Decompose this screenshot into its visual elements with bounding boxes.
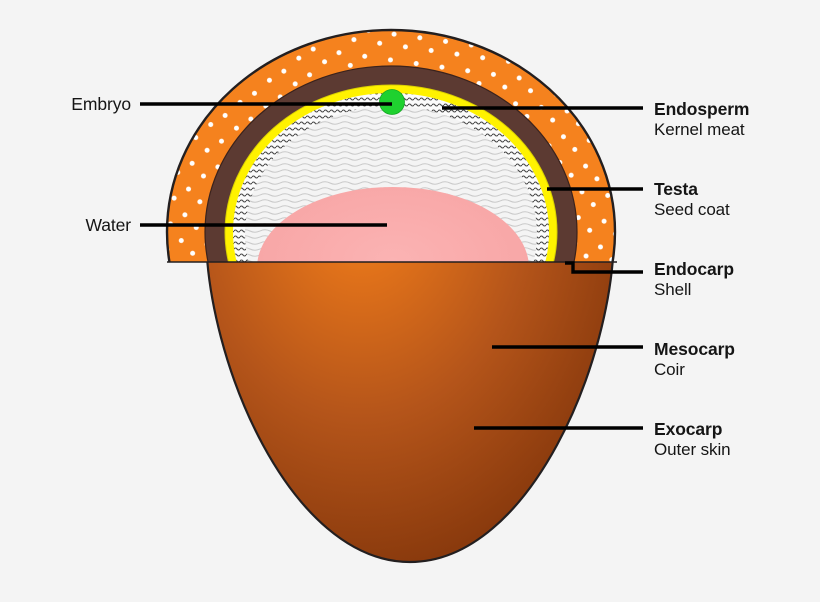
label-testa-subtitle: Seed coat: [654, 199, 730, 220]
label-testa-title: Testa: [654, 180, 730, 199]
embryo-marker: [380, 90, 405, 115]
label-water: Water: [0, 216, 131, 235]
label-endocarp-subtitle: Shell: [654, 279, 734, 300]
label-exocarp-subtitle: Outer skin: [654, 439, 730, 460]
label-testa: Testa Seed coat: [654, 180, 730, 220]
label-embryo: Embryo: [0, 95, 131, 114]
label-mesocarp-title: Mesocarp: [654, 340, 735, 359]
coconut-illustration: [0, 0, 820, 602]
coconut-anatomy-diagram: Embryo Water Endosperm Kernel meat Testa…: [0, 0, 820, 602]
label-endosperm-subtitle: Kernel meat: [654, 119, 749, 140]
label-embryo-title: Embryo: [0, 95, 131, 114]
label-water-title: Water: [0, 216, 131, 235]
label-exocarp: Exocarp Outer skin: [654, 420, 730, 460]
label-endocarp-title: Endocarp: [654, 260, 734, 279]
label-endosperm: Endosperm Kernel meat: [654, 100, 749, 140]
label-mesocarp: Mesocarp Coir: [654, 340, 735, 380]
label-endocarp: Endocarp Shell: [654, 260, 734, 300]
label-exocarp-title: Exocarp: [654, 420, 730, 439]
label-endosperm-title: Endosperm: [654, 100, 749, 119]
label-mesocarp-subtitle: Coir: [654, 359, 735, 380]
